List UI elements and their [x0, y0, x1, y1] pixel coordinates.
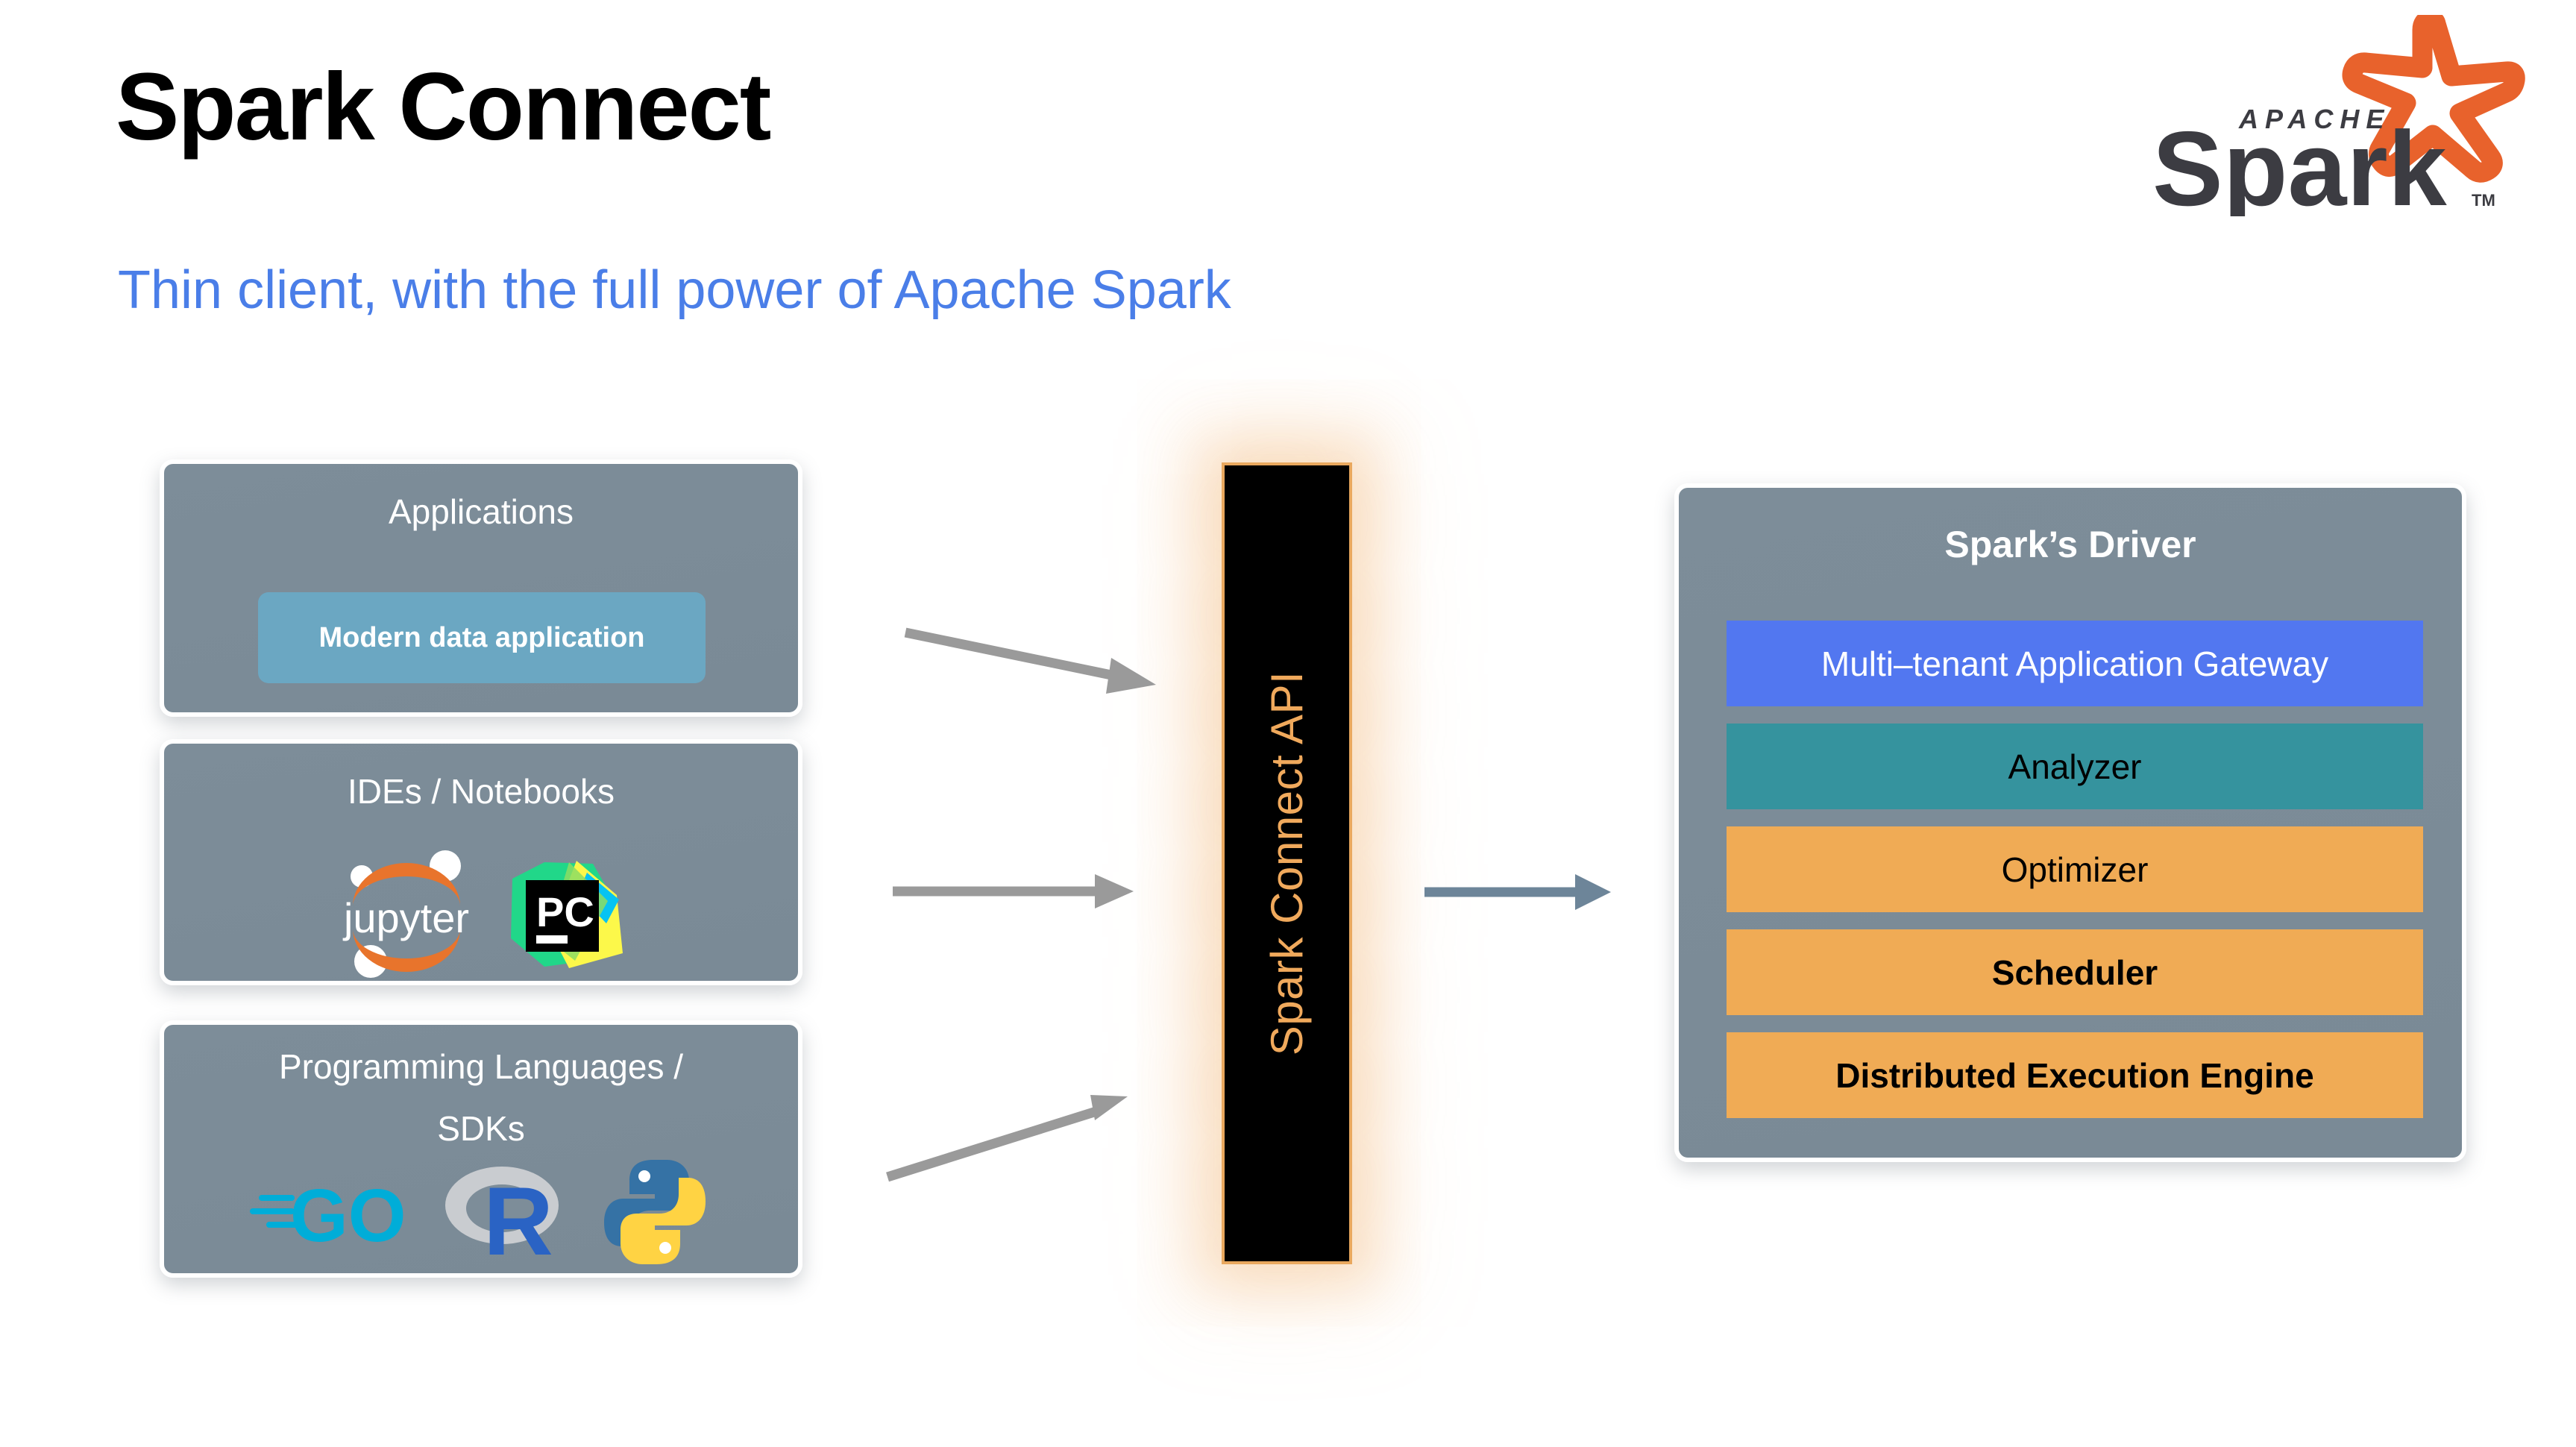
panel-programming-languages-sdks[interactable]: Programming Languages / SDKs GO — [160, 1020, 802, 1278]
panel-applications[interactable]: Applications Modern data application — [160, 459, 802, 717]
python-eye-bottom — [659, 1242, 671, 1254]
panel-ides-notebooks[interactable]: IDEs / Notebooks jupyter — [160, 739, 802, 985]
arrow-languages-to-api — [888, 1095, 1128, 1177]
python-eye-top — [638, 1170, 650, 1182]
panel-languages-title-line2: SDKs — [164, 1109, 798, 1149]
driver-stage-stack: Multi–tenant Application Gateway Analyze… — [1727, 621, 2423, 1118]
language-logo-row: GO R — [164, 1150, 798, 1277]
arrow-applications-to-api — [905, 633, 1156, 694]
driver-stage-gateway[interactable]: Multi–tenant Application Gateway — [1727, 621, 2423, 706]
ide-logo-row: jupyter PC — [164, 847, 798, 981]
go-logo: GO — [248, 1164, 409, 1264]
panel-applications-title: Applications — [164, 492, 798, 532]
chip-modern-data-application[interactable]: Modern data application — [258, 592, 706, 683]
arrow-api-to-driver — [1424, 874, 1611, 910]
page-subtitle: Thin client, with the full power of Apac… — [118, 260, 1231, 321]
spark-wordmark: Spark — [2152, 110, 2448, 216]
panel-sparks-driver[interactable]: Spark’s Driver Multi–tenant Application … — [1674, 483, 2466, 1162]
panel-ides-notebooks-title: IDEs / Notebooks — [164, 772, 798, 812]
apache-spark-logo: APACHE Spark TM — [2143, 15, 2531, 216]
r-logo: R — [439, 1156, 565, 1272]
trademark-mark: TM — [2472, 191, 2495, 210]
driver-stage-distributed-execution-engine[interactable]: Distributed Execution Engine — [1727, 1032, 2423, 1118]
spark-connect-api-bar[interactable]: Spark Connect API — [1222, 462, 1352, 1264]
arrow-ides-to-api — [893, 874, 1134, 908]
panel-sparks-driver-title: Spark’s Driver — [1679, 524, 2462, 567]
jupyter-logo: jupyter — [332, 845, 481, 983]
page-title: Spark Connect — [116, 52, 770, 162]
driver-stage-analyzer[interactable]: Analyzer — [1727, 723, 2423, 809]
spark-connect-api-label: Spark Connect API — [1261, 671, 1313, 1055]
panel-languages-title-line1: Programming Languages / — [164, 1047, 798, 1087]
pycharm-logo: PC — [503, 849, 630, 979]
jupyter-wordmark: jupyter — [342, 894, 469, 941]
driver-stage-optimizer[interactable]: Optimizer — [1727, 826, 2423, 912]
go-wordmark: GO — [290, 1174, 406, 1258]
slide-canvas: Spark Connect Thin client, with the full… — [0, 0, 2576, 1447]
pycharm-wordmark: PC — [536, 888, 594, 935]
pycharm-underscore — [536, 935, 568, 944]
driver-stage-scheduler[interactable]: Scheduler — [1727, 929, 2423, 1015]
python-logo — [595, 1152, 714, 1275]
r-wordmark: R — [483, 1167, 553, 1268]
